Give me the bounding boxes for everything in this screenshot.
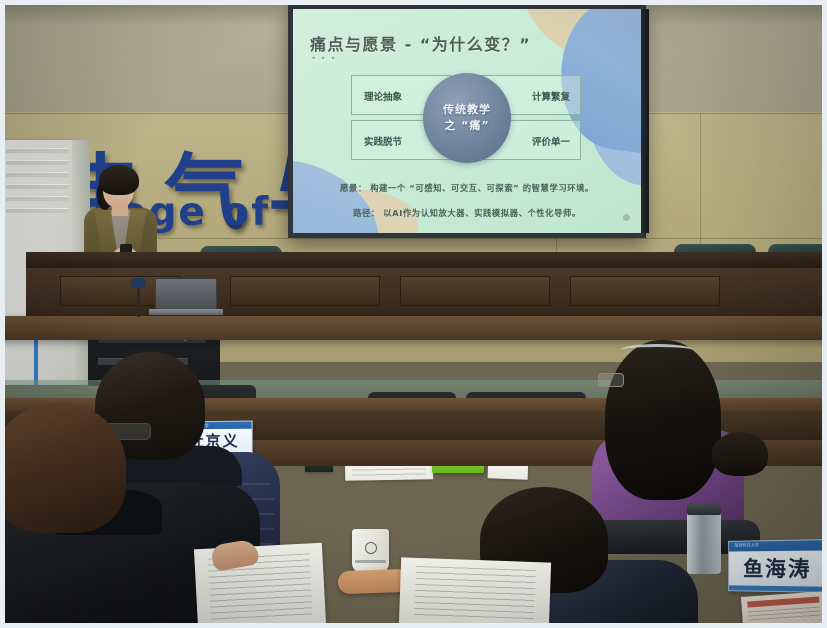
red-certificate-document: [741, 591, 827, 628]
diagram-box-label: 实践脱节: [364, 134, 402, 148]
nameplate-name: 鱼海涛: [729, 553, 827, 584]
diagram-center-circle: 传统教学 之 “痛”: [423, 73, 511, 163]
nameplate-org: 陕西科技大学: [735, 542, 760, 548]
eyeglasses-icon: [598, 373, 624, 387]
paper-cup: [352, 529, 389, 573]
slide-diagram: 理论抽象 实践脱节 计算繁复 评价单一 传统教学 之 “痛”: [351, 75, 581, 161]
laptop-screen: [155, 278, 217, 310]
laptop-base: [149, 309, 223, 315]
presentation-photo: 电气与 学院 ege of E ngineerin: [0, 0, 827, 628]
foreground-document-center: [399, 557, 551, 628]
slide-subtitle-dots: • • •: [312, 53, 336, 63]
audience-head-far-right: [712, 432, 768, 476]
diagram-box-label: 评价单一: [532, 134, 570, 148]
hair-band: [621, 344, 693, 356]
slide-title: 痛点与愿景 - “为什么变？”: [310, 31, 531, 55]
audience-hair: [0, 403, 126, 533]
nameplate-yu-hai-tao: 陕西科技大学 鱼海涛: [728, 539, 827, 593]
projector-screen: 痛点与愿景 - “为什么变？” • • • 理论抽象 实践脱节 计算繁复 评价单…: [288, 4, 646, 238]
diagram-box-label: 理论抽象: [364, 89, 402, 103]
podium-panel: [230, 276, 380, 306]
thermos-flask: [687, 508, 721, 574]
slide-path-line: 路径： 以AI作为认知放大器、实践模拟器、个性化导师。: [293, 207, 641, 219]
nameplate-header: 陕西科技大学: [729, 540, 827, 551]
slide-corner-dot: [623, 214, 630, 221]
podium-panel: [400, 276, 550, 306]
thermos-cap: [687, 503, 721, 515]
microphone-icon: [131, 278, 146, 288]
cup-logo-icon: [365, 542, 377, 554]
slide-canvas: 痛点与愿景 - “为什么变？” • • • 理论抽象 实践脱节 计算繁复 评价单…: [293, 9, 641, 233]
diagram-box-label: 计算繁复: [532, 89, 570, 103]
microphone-stand: [137, 283, 140, 317]
podium-front-edge: [0, 316, 827, 340]
audience-hair: [605, 340, 721, 500]
slide-vision-line: 愿景： 构建一个 “可感知、可交互、可探索” 的智慧学习环境。: [293, 182, 641, 194]
podium-panel: [570, 276, 720, 306]
circle-line-1: 传统教学: [443, 102, 491, 118]
circle-line-2: 之 “痛”: [444, 118, 489, 134]
nameplate-footer: [729, 585, 827, 592]
speaker-hair: [99, 165, 139, 195]
